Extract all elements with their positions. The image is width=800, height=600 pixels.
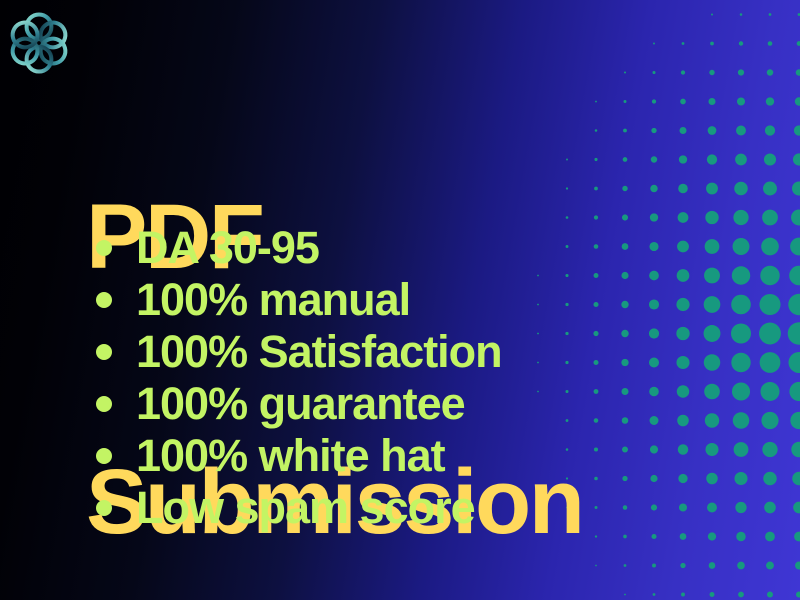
feature-list: DA 30-95100% manual100% Satisfaction100%… (86, 222, 786, 534)
bullet-dot-icon (96, 500, 112, 516)
bullet-dot-icon (96, 448, 112, 464)
feature-list-item-label: 100% manual (136, 274, 410, 326)
feature-list-item: DA 30-95 (86, 222, 786, 274)
bullet-dot-icon (96, 344, 112, 360)
feature-list-item: 100% white hat (86, 430, 786, 482)
bullet-dot-icon (96, 240, 112, 256)
feature-list-item: 100% manual (86, 274, 786, 326)
feature-list-item: 100% Satisfaction (86, 326, 786, 378)
feature-list-item-label: 100% guarantee (136, 378, 465, 430)
bullet-dot-icon (96, 396, 112, 412)
bullet-dot-icon (96, 292, 112, 308)
feature-list-item-label: Low spam score (136, 482, 475, 534)
feature-list-item-label: 100% Satisfaction (136, 326, 502, 378)
feature-list-item-label: 100% white hat (136, 430, 445, 482)
content-layer: PDF Submission DA 30-95100% manual100% S… (0, 0, 800, 600)
feature-list-item: 100% guarantee (86, 378, 786, 430)
feature-list-item: Low spam score (86, 482, 786, 534)
promo-poster: PDF Submission DA 30-95100% manual100% S… (0, 0, 800, 600)
feature-list-item-label: DA 30-95 (136, 222, 319, 274)
